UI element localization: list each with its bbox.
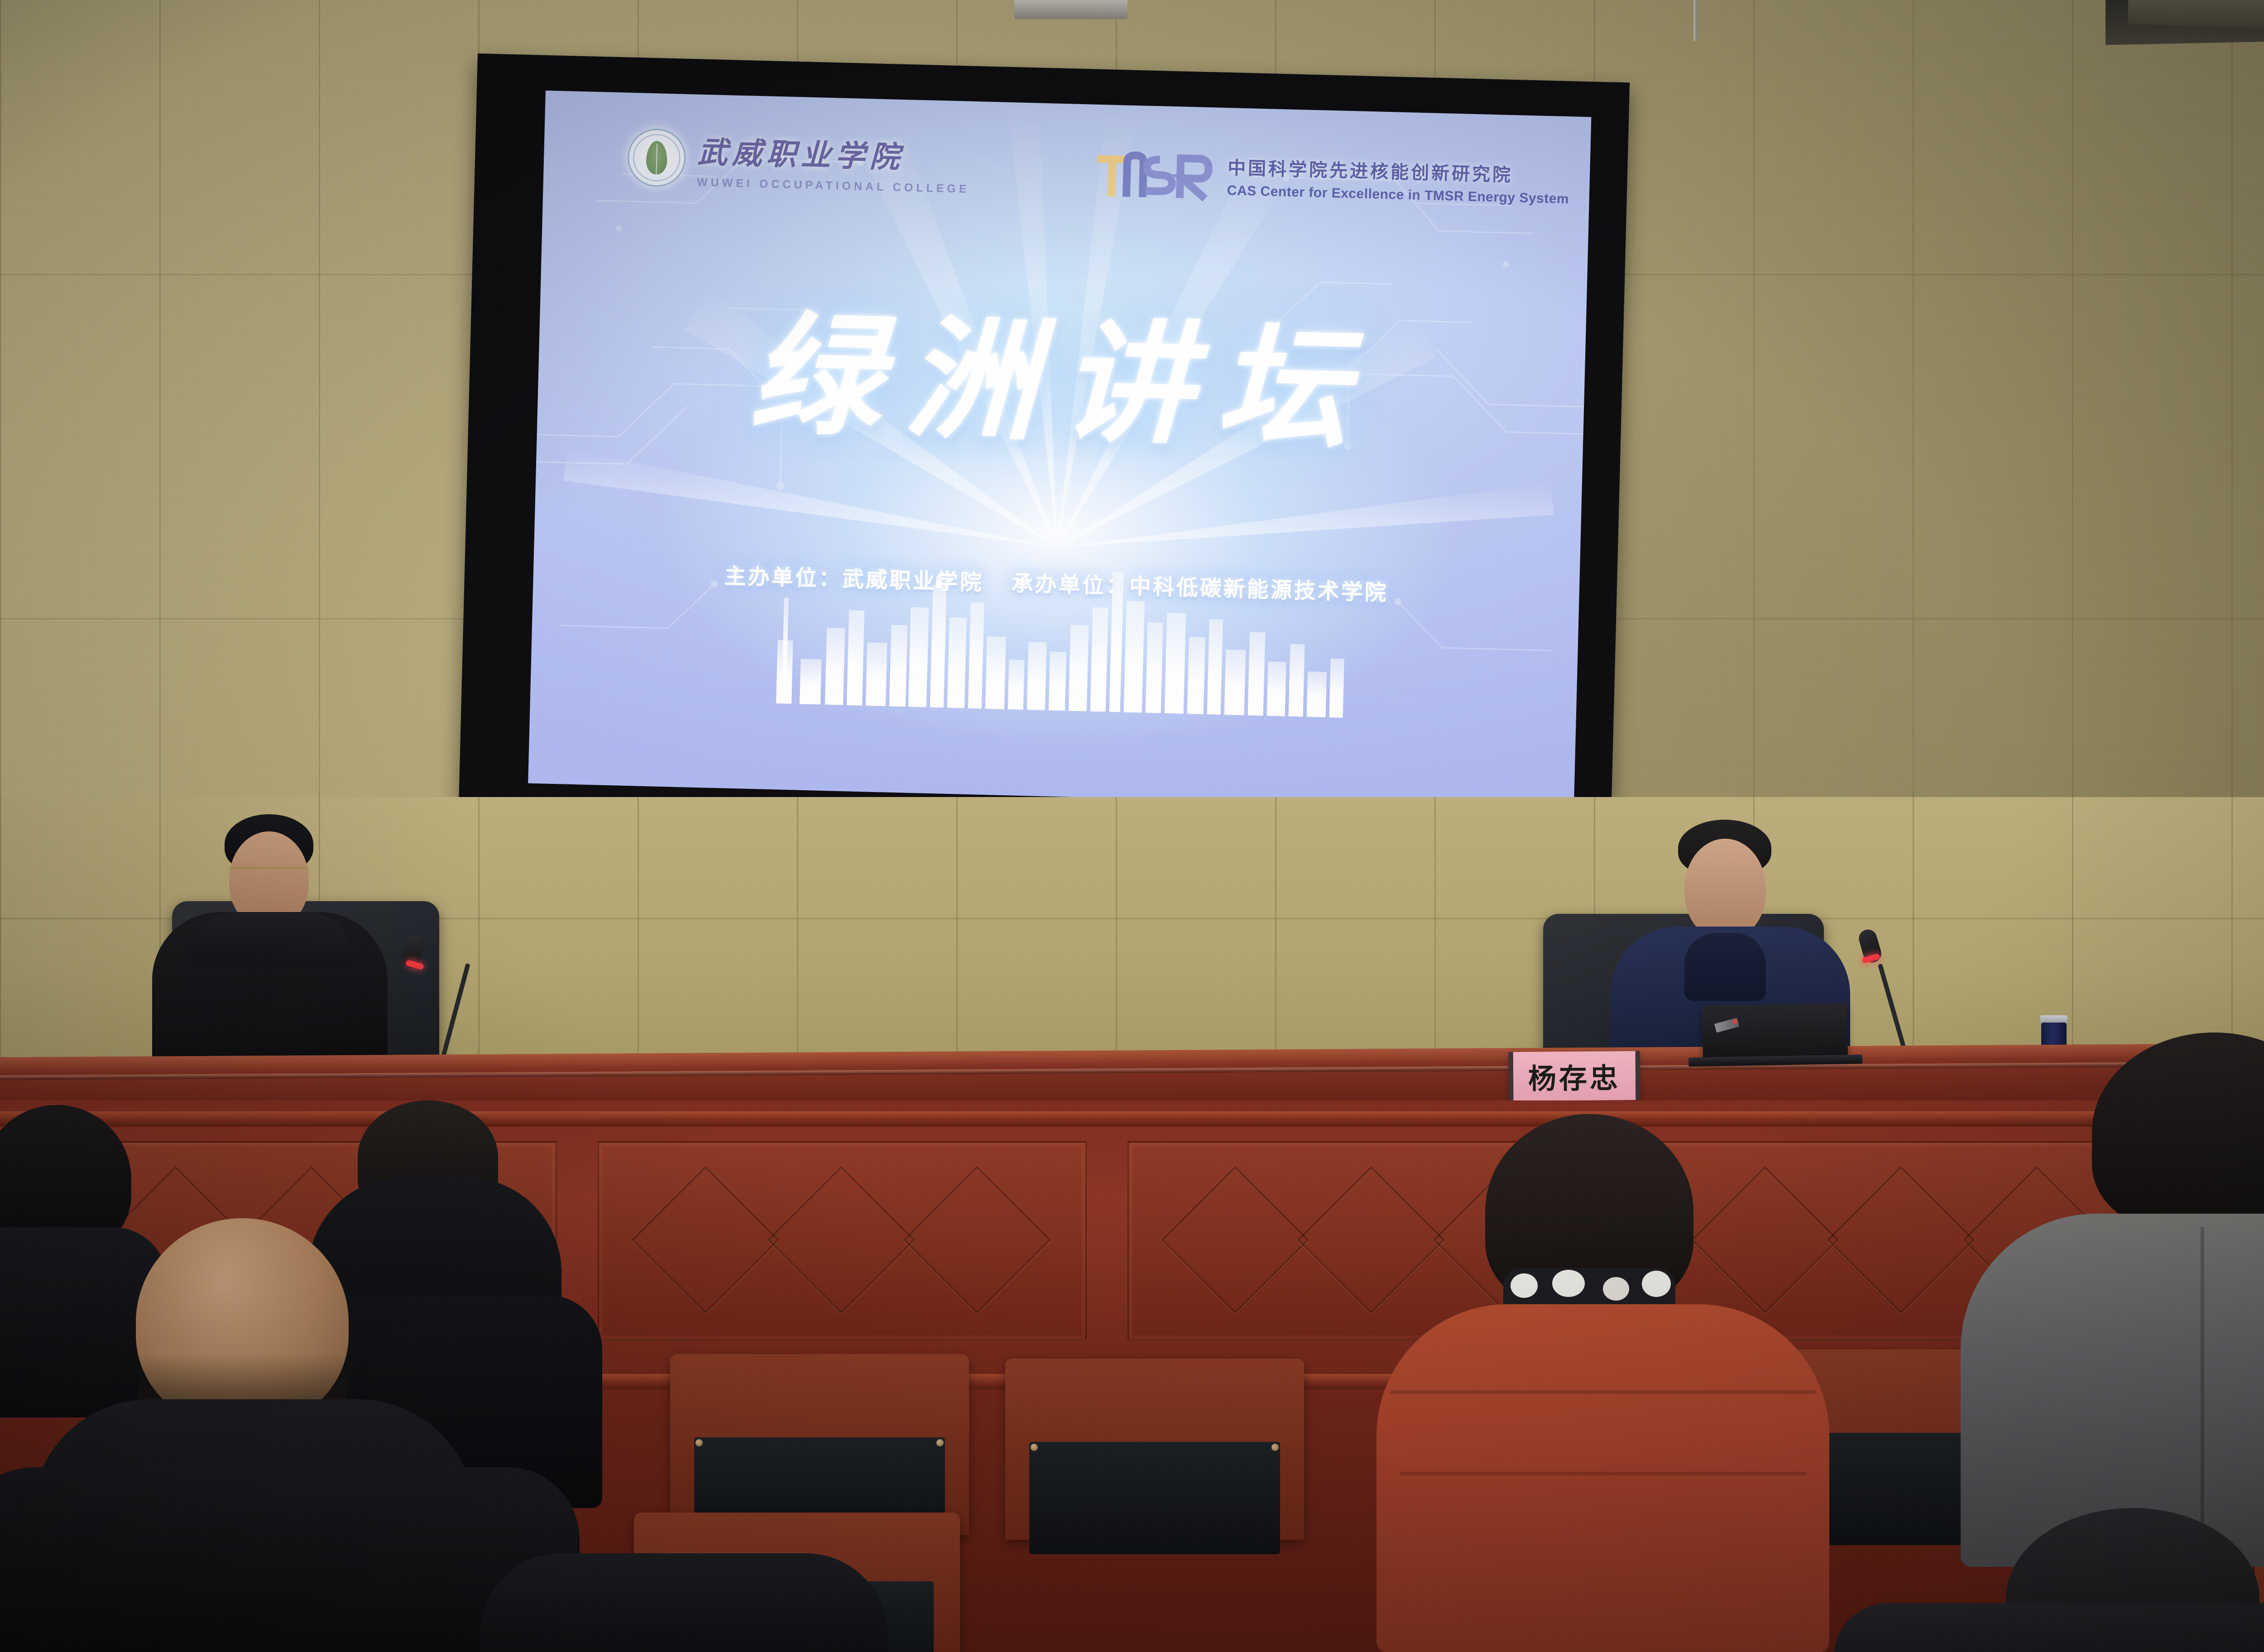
laptop-logo-icon bbox=[1714, 1018, 1739, 1032]
tmsr-logo: 中国科学院先进核能创新研究院 CAS Center for Excellence… bbox=[1091, 143, 1570, 215]
college-name-en: WUWEI OCCUPATIONAL COLLEGE bbox=[697, 176, 970, 196]
conference-hall-photo: 武威职业学院 WUWEI OCCUPATIONAL COLLEGE 中国科学院先… bbox=[0, 0, 2264, 1652]
nameplate: 杨存忠 bbox=[1509, 1051, 1640, 1101]
audience-member-red-jacket bbox=[1349, 1114, 1866, 1652]
nameplate-text: 杨存忠 bbox=[1528, 1055, 1621, 1096]
laptop bbox=[1702, 1003, 1848, 1060]
audience-member-gray-jacket bbox=[1947, 1032, 2264, 1567]
audience-chair bbox=[670, 1354, 969, 1535]
presentation-slide: 武威职业学院 WUWEI OCCUPATIONAL COLLEGE 中国科学院先… bbox=[528, 91, 1591, 810]
projector-rod-icon bbox=[1693, 0, 1698, 41]
tmsr-logo-icon bbox=[1091, 143, 1215, 206]
audience-member-foreground-center bbox=[480, 1553, 887, 1652]
slide-city-graphic bbox=[528, 530, 1580, 810]
leaf-icon bbox=[646, 140, 667, 174]
audience-member-foreground-right bbox=[1834, 1508, 2264, 1652]
speaker-left-glasses-icon bbox=[229, 867, 309, 877]
college-crest-icon bbox=[627, 128, 686, 187]
tmsr-name-cn: 中国科学院先进核能创新研究院 bbox=[1228, 153, 1570, 188]
speaker-right-head bbox=[1684, 839, 1766, 939]
speaker-right-collar bbox=[1684, 933, 1766, 1001]
speaker-left-hood bbox=[190, 913, 353, 967]
college-name-cn: 武威职业学院 bbox=[697, 128, 971, 178]
slide-title: 绿洲讲坛 bbox=[537, 263, 1587, 479]
college-logo: 武威职业学院 WUWEI OCCUPATIONAL COLLEGE bbox=[627, 126, 971, 196]
projector-mount-icon bbox=[1014, 0, 1127, 19]
audience-chair bbox=[1005, 1359, 1304, 1540]
bench-panel bbox=[598, 1141, 1087, 1340]
